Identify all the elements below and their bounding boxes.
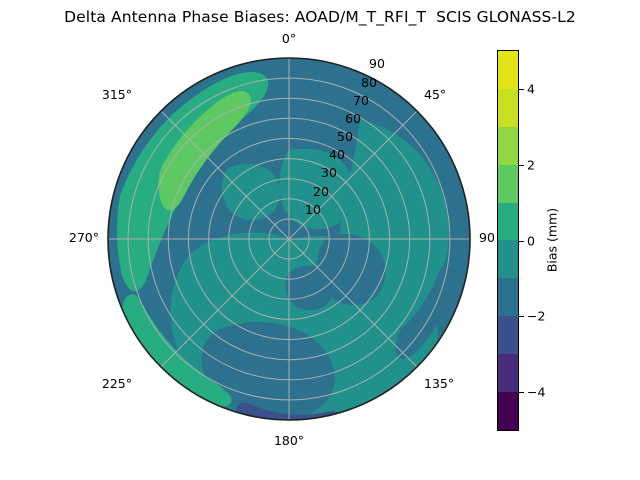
colorbar-tick-mark-2: [519, 165, 524, 166]
colorbar-band-0: [498, 392, 518, 430]
theta-tick-315: 315°: [102, 89, 132, 102]
theta-tick-0: 0°: [282, 33, 296, 46]
colorbar-tick-mark--4: [519, 392, 524, 393]
theta-tick-270: 270°: [69, 232, 99, 245]
r-tick-20: 20: [313, 186, 329, 199]
theta-tick-225: 225°: [102, 378, 132, 391]
r-tick-40: 40: [329, 149, 345, 162]
polar-grid: [108, 58, 470, 420]
colorbar-band-7: [498, 127, 518, 165]
r-tick-30: 30: [321, 167, 337, 180]
colorbar-axis-label: Bias (mm): [545, 208, 560, 272]
r-tick-80: 80: [361, 77, 377, 90]
r-tick-90: 90: [369, 58, 385, 71]
colorbar-tick-mark-4: [519, 89, 524, 90]
colorbar-bands: [498, 51, 518, 430]
theta-tick-90: 90: [479, 232, 495, 245]
colorbar-tick-label--4: −4: [527, 385, 545, 400]
figure-canvas: Delta Antenna Phase Biases: AOAD/M_T_RFI…: [0, 0, 640, 480]
colorbar-band-2: [498, 316, 518, 354]
colorbar-band-9: [498, 51, 518, 89]
colorbar-band-1: [498, 354, 518, 392]
r-tick-60: 60: [345, 113, 361, 126]
colorbar-tick-label-2: 2: [527, 157, 535, 172]
colorbar-tick-label-0: 0: [527, 233, 535, 248]
r-tick-10: 10: [305, 204, 321, 217]
colorbar-tick-mark--2: [519, 316, 524, 317]
colorbar-band-5: [498, 203, 518, 241]
theta-tick-45: 45°: [424, 89, 446, 102]
colorbar-tick-label--2: −2: [527, 309, 545, 324]
colorbar-band-4: [498, 240, 518, 278]
colorbar-band-8: [498, 89, 518, 127]
theta-tick-135: 135°: [424, 378, 454, 391]
colorbar-band-3: [498, 278, 518, 316]
theta-tick-180: 180°: [274, 435, 304, 448]
colorbar-band-6: [498, 165, 518, 203]
colorbar: [497, 50, 519, 431]
colorbar-tick-label-4: 4: [527, 81, 535, 96]
colorbar-tick-mark-0: [519, 241, 524, 242]
r-tick-50: 50: [337, 131, 353, 144]
r-tick-70: 70: [353, 95, 369, 108]
